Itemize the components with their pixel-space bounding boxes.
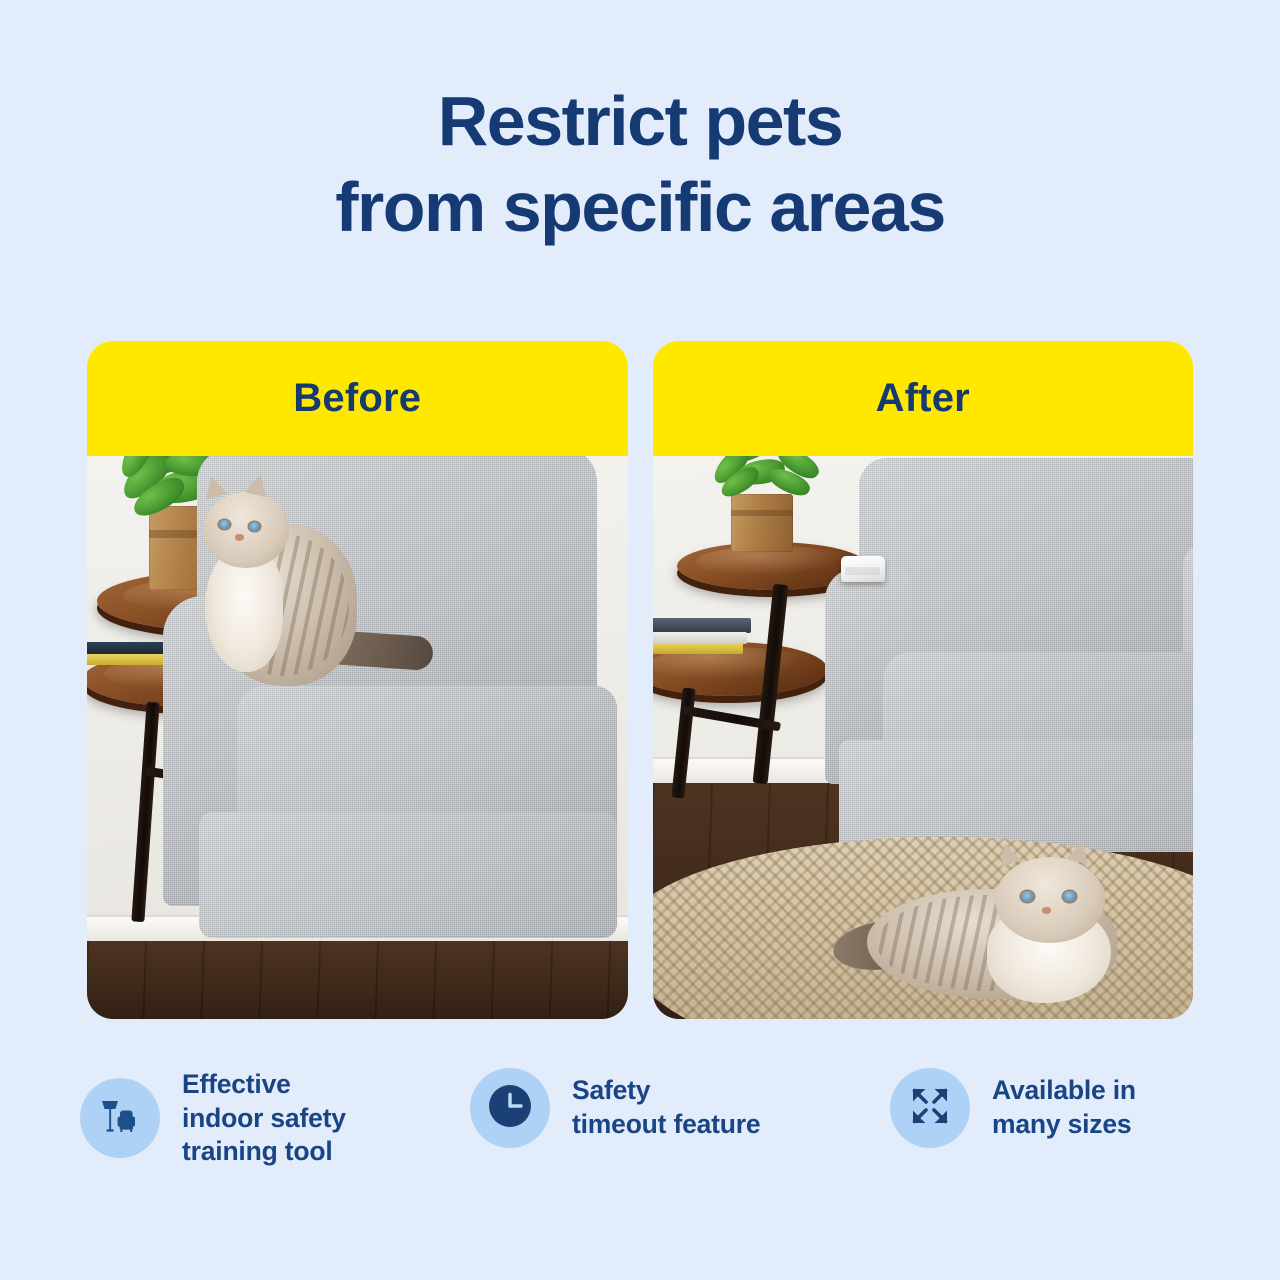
cat-head: [995, 857, 1105, 943]
before-banner: Before: [87, 341, 628, 456]
after-photo: [653, 456, 1194, 1019]
cat-ear-left: [201, 473, 228, 499]
feature-training-tool: Effective indoor safety training tool: [80, 1068, 470, 1169]
plant-foliage: [701, 456, 831, 502]
cat-eye-left: [219, 520, 230, 529]
feature-label-line: timeout feature: [572, 1108, 760, 1142]
floor-lamp-armchair-icon: [98, 1094, 142, 1143]
cat-eye-right: [249, 522, 260, 531]
after-label: After: [876, 376, 970, 421]
cat-eye-right: [1063, 891, 1076, 902]
armchair-base: [839, 740, 1194, 852]
book-stack: [653, 643, 743, 654]
book: [87, 654, 169, 665]
feature-safety-timeout: Safety timeout feature: [470, 1068, 890, 1148]
feature-label-line: Effective: [182, 1068, 346, 1102]
icon-circle: [470, 1068, 550, 1148]
before-after-comparison: Before: [87, 341, 1193, 1019]
floor: [87, 941, 628, 1019]
icon-circle: [80, 1078, 160, 1158]
feature-label-line: training tool: [182, 1135, 346, 1169]
feature-list: Effective indoor safety training tool Sa…: [80, 1068, 1210, 1169]
cat-eye-left: [1021, 891, 1034, 902]
plant-pot: [731, 494, 793, 552]
before-photo: [87, 456, 628, 1019]
deterrent-device: [841, 556, 885, 582]
cat-ear-left: [994, 840, 1021, 867]
feature-label: Available in many sizes: [992, 1074, 1136, 1141]
cat-nose: [235, 534, 244, 541]
feature-label-line: indoor safety: [182, 1102, 346, 1136]
icon-circle: [890, 1068, 970, 1148]
cat-head: [203, 492, 289, 568]
page-title: Restrict pets from specific areas: [0, 0, 1280, 242]
clock-icon: [485, 1081, 535, 1136]
page-title-line-1: Restrict pets: [0, 86, 1280, 156]
expand-arrows-icon: [907, 1083, 953, 1134]
before-card: Before: [87, 341, 628, 1019]
cat: [177, 468, 477, 728]
feature-label-line: many sizes: [992, 1108, 1136, 1142]
feature-label: Safety timeout feature: [572, 1074, 760, 1141]
armchair-base: [199, 812, 617, 938]
feature-many-sizes: Available in many sizes: [890, 1068, 1210, 1148]
feature-label: Effective indoor safety training tool: [182, 1068, 346, 1169]
book-stack: [653, 618, 751, 633]
before-label: Before: [293, 376, 421, 421]
after-card: After: [653, 341, 1194, 1019]
after-banner: After: [653, 341, 1194, 456]
feature-label-line: Safety: [572, 1074, 760, 1108]
cat-nose: [1042, 907, 1051, 914]
armchair-cushion: [885, 478, 1194, 662]
feature-label-line: Available in: [992, 1074, 1136, 1108]
page-title-line-2: from specific areas: [0, 172, 1280, 242]
cat: [837, 839, 1167, 1007]
